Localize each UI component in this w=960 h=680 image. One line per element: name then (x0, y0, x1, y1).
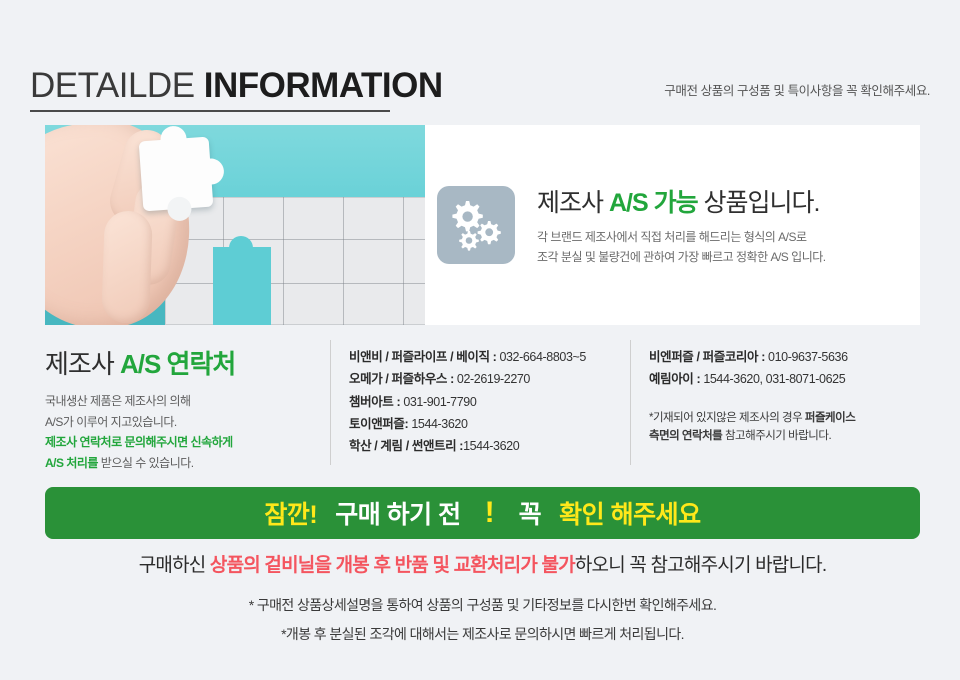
contacts-desc-line-2: A/S가 이루어 지고있습니다. (45, 412, 330, 433)
finger-3 (101, 210, 153, 324)
banner-text-before-purchase: 구매 하기 전 (335, 495, 460, 531)
notice-banner: 잠깐! 구매 하기 전 ! 꼭 확인 해주세요 (45, 487, 920, 539)
banner-text-must: 꼭 (519, 495, 542, 531)
title-underline (30, 110, 390, 112)
as-heading: 제조사 A/S 가능 상품입니다. (537, 183, 826, 219)
return-policy-highlight: 상품의 겉비닐을 개봉 후 반품 및 교환처리가 불가 (210, 555, 575, 576)
contact-name: 비앤비 / 퍼즐라이프 / 베이직 : (349, 350, 496, 364)
contacts-column-middle: 비앤비 / 퍼즐라이프 / 베이직 : 032-664-8803~5 오메가 /… (330, 340, 630, 465)
contacts-column-right: 비엔퍼즐 / 퍼즐코리아 : 010-9637-5636 예림아이 : 1544… (630, 340, 920, 465)
contacts-footnote-pre: *기재되어 있지않은 제조사의 경우 (649, 412, 805, 424)
contacts-footnote: *기재되어 있지않은 제조사의 경우 퍼즐케이스 측면의 연락처를 참고해주시기… (649, 409, 920, 447)
contact-name: 챔버아트 : (349, 395, 400, 409)
contacts-heading: 제조사 A/S 연락처 (45, 344, 330, 381)
page-title: DETAILDE INFORMATION (30, 68, 443, 103)
contact-row: 챔버아트 : 031-901-7790 (349, 391, 630, 413)
note-check-details: * 구매전 상품상세설명을 통하여 상품의 구성품 및 기타정보를 다시한번 확… (45, 595, 920, 615)
contact-phone: 031-901-7790 (400, 395, 476, 409)
contact-row: 비엔퍼즐 / 퍼즐코리아 : 010-9637-5636 (649, 346, 920, 368)
contacts-footnote-bold-2: 측면의 연락처를 (649, 430, 722, 442)
contacts-desc-line-3: 제조사 연락처로 문의해주시면 신속하게 (45, 432, 330, 453)
contacts-desc-line-4-em: A/S 처리를 (45, 456, 98, 470)
as-heading-pre: 제조사 (537, 189, 609, 217)
puzzle-board (165, 197, 425, 325)
return-policy-pre: 구매하신 (139, 555, 210, 576)
as-description-line-2: 조각 분실 및 불량건에 관하여 가장 빠르고 정확한 A/S 입니다. (537, 248, 826, 267)
contact-name: 오메가 / 퍼즐하우스 : (349, 372, 454, 386)
contact-name: 학산 / 계림 / 썬앤트리 : (349, 439, 463, 453)
contacts-footnote-line-1: *기재되어 있지않은 제조사의 경우 퍼즐케이스 (649, 409, 920, 428)
as-description: 각 브랜드 제조사에서 직접 처리를 해드리는 형식의 A/S로 조각 분실 및… (537, 228, 826, 267)
gears-icon (437, 186, 515, 264)
contact-phone: 032-664-8803~5 (496, 350, 586, 364)
contact-phone: 1544-3620 (463, 439, 519, 453)
banner-exclamation-divider: ! (479, 498, 501, 528)
held-puzzle-piece (139, 137, 214, 212)
banner-text-confirm: 확인 해주세요 (559, 495, 700, 531)
contacts-footnote-line-2: 측면의 연락처를 참고해주시기 바랍니다. (649, 427, 920, 446)
contacts-desc-line-1: 국내생산 제품은 제조사의 의해 (45, 391, 330, 412)
return-policy-notice: 구매하신 상품의 겉비닐을 개봉 후 반품 및 교환처리가 불가하오니 꼭 참고… (45, 552, 920, 581)
contacts-heading-highlight: A/S 연락처 (120, 349, 235, 379)
contact-name: 비엔퍼즐 / 퍼즐코리아 : (649, 350, 765, 364)
contacts-section: 제조사 A/S 연락처 국내생산 제품은 제조사의 의해 A/S가 이루어 지고… (45, 340, 920, 465)
contact-phone: 02-2619-2270 (454, 372, 530, 386)
product-detail-page: DETAILDE INFORMATION 구매전 상품의 구성품 및 특이사항을… (0, 0, 960, 680)
contacts-footnote-bold-1: 퍼즐케이스 (805, 412, 855, 424)
as-info-panel: 제조사 A/S 가능 상품입니다. 각 브랜드 제조사에서 직접 처리를 해드리… (425, 125, 920, 325)
contacts-heading-pre: 제조사 (45, 349, 120, 379)
as-heading-highlight: A/S 가능 (609, 189, 698, 217)
puzzle-photo (45, 125, 425, 325)
contact-row: 오메가 / 퍼즐하우스 : 02-2619-2270 (349, 368, 630, 390)
page-title-bold: INFORMATION (204, 66, 443, 105)
piece-knob-top (160, 125, 188, 153)
contacts-desc-line-4-rest: 받으실 수 있습니다. (98, 456, 194, 470)
hero-section: 제조사 A/S 가능 상품입니다. 각 브랜드 제조사에서 직접 처리를 해드리… (45, 125, 920, 325)
contact-row: 토이앤퍼즐: 1544-3620 (349, 413, 630, 435)
page-title-thin: DETAILDE (30, 66, 195, 105)
contact-row: 학산 / 계림 / 썬앤트리 :1544-3620 (349, 435, 630, 457)
contacts-desc-line-4: A/S 처리를 받으실 수 있습니다. (45, 453, 330, 474)
contact-phone: 1544-3620, 031-8071-0625 (700, 372, 845, 386)
bottom-notes: 구매하신 상품의 겉비닐을 개봉 후 반품 및 교환처리가 불가하오니 꼭 참고… (45, 552, 920, 644)
banner-text-attention: 잠깐! (264, 495, 317, 531)
as-description-line-1: 각 브랜드 제조사에서 직접 처리를 해드리는 형식의 A/S로 (537, 228, 826, 247)
note-missing-pieces: *개봉 후 분실된 조각에 대해서는 제조사로 문의하시면 빠르게 처리됩니다. (45, 624, 920, 644)
puzzle-missing-slot (213, 247, 271, 325)
contact-phone: 010-9637-5636 (765, 350, 848, 364)
contacts-description: 국내생산 제품은 제조사의 의해 A/S가 이루어 지고있습니다. 제조사 연락… (45, 391, 330, 474)
contact-name: 예림아이 : (649, 372, 700, 386)
contact-row: 비앤비 / 퍼즐라이프 / 베이직 : 032-664-8803~5 (349, 346, 630, 368)
contact-row: 예림아이 : 1544-3620, 031-8071-0625 (649, 368, 920, 390)
as-text-block: 제조사 A/S 가능 상품입니다. 각 브랜드 제조사에서 직접 처리를 해드리… (537, 183, 826, 267)
contacts-intro: 제조사 A/S 연락처 국내생산 제품은 제조사의 의해 A/S가 이루어 지고… (45, 340, 330, 465)
contact-name: 토이앤퍼즐: (349, 417, 408, 431)
title-row: DETAILDE INFORMATION 구매전 상품의 구성품 및 특이사항을… (30, 68, 930, 103)
header-subtitle: 구매전 상품의 구성품 및 특이사항을 꼭 확인해주세요. (664, 80, 930, 103)
contact-phone: 1544-3620 (408, 417, 467, 431)
as-heading-post: 상품입니다. (698, 189, 820, 217)
page-header: DETAILDE INFORMATION 구매전 상품의 구성품 및 특이사항을… (30, 68, 930, 112)
return-policy-post: 하오니 꼭 참고해주시기 바랍니다. (575, 555, 826, 576)
contacts-footnote-rest: 참고해주시기 바랍니다. (722, 430, 831, 442)
puzzle-grid (165, 197, 425, 325)
